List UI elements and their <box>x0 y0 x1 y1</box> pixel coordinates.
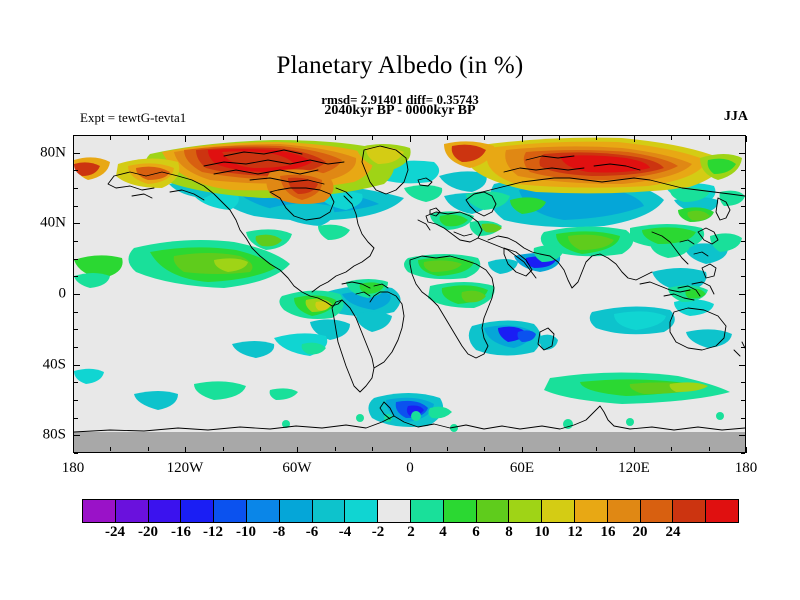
colorbar-tick-label: -2 <box>372 524 385 541</box>
y-tick-right <box>741 206 745 207</box>
x-axis-label: 60W <box>282 460 311 477</box>
colorbar-tick-label: 6 <box>472 524 480 541</box>
colorbar-swatch <box>509 500 542 522</box>
x-tick-top <box>634 136 635 142</box>
colorbar-tick-label: -4 <box>339 524 352 541</box>
y-tick-right <box>741 347 745 348</box>
x-tick-top <box>372 136 373 140</box>
colorbar-tick-label: -20 <box>138 524 158 541</box>
x-tick <box>110 447 111 451</box>
x-tick-top <box>671 136 672 140</box>
colorbar-swatch <box>247 500 280 522</box>
colorbar-swatch <box>444 500 477 522</box>
x-tick-top <box>447 136 448 140</box>
x-tick <box>559 447 560 451</box>
y-tick <box>74 453 78 454</box>
colorbar-swatch <box>116 500 149 522</box>
x-tick-top <box>559 136 560 140</box>
y-tick <box>74 188 78 189</box>
colorbar-swatch <box>673 500 706 522</box>
x-tick <box>746 447 747 453</box>
colorbar-tick-label: -8 <box>273 524 286 541</box>
x-tick-top <box>223 136 224 140</box>
colorbar-swatch <box>149 500 182 522</box>
x-tick <box>709 447 710 451</box>
x-tick <box>260 447 261 451</box>
x-tick <box>484 447 485 451</box>
x-tick <box>223 447 224 451</box>
albedo-anomaly-map <box>74 136 745 452</box>
y-tick <box>74 135 78 136</box>
season-label: JJA <box>724 109 748 125</box>
x-tick-top <box>297 136 298 142</box>
colorbar-swatch <box>706 500 738 522</box>
x-tick <box>671 447 672 451</box>
y-tick <box>74 241 78 242</box>
x-tick-top <box>335 136 336 140</box>
colorbar <box>82 499 739 523</box>
y-tick <box>74 223 80 224</box>
x-tick <box>410 447 411 453</box>
x-tick-top <box>746 136 747 142</box>
x-tick <box>634 447 635 453</box>
x-axis-label: 180 <box>735 460 758 477</box>
colorbar-swatch <box>214 500 247 522</box>
x-axis-label: 120E <box>618 460 650 477</box>
y-tick-right <box>739 365 745 366</box>
colorbar-swatch <box>411 500 444 522</box>
y-tick <box>74 206 78 207</box>
y-axis-label: 40S <box>20 357 66 374</box>
colorbar-swatch <box>83 500 116 522</box>
colorbar-tick-label: -16 <box>171 524 191 541</box>
colorbar-tick-label: 4 <box>439 524 447 541</box>
colorbar-tick-label: 8 <box>505 524 513 541</box>
x-axis-label: 180 <box>62 460 85 477</box>
y-tick <box>74 382 78 383</box>
x-tick-top <box>596 136 597 140</box>
x-tick <box>185 447 186 453</box>
colorbar-swatch <box>378 500 411 522</box>
y-tick-right <box>741 170 745 171</box>
x-tick <box>297 447 298 453</box>
x-axis-label: 120W <box>167 460 204 477</box>
colorbar-swatch <box>181 500 214 522</box>
x-tick-top <box>410 136 411 142</box>
y-axis-label: 80S <box>20 427 66 444</box>
colorbar-tick-label: -10 <box>236 524 256 541</box>
colorbar-swatch <box>608 500 641 522</box>
colorbar-tick-label: 16 <box>601 524 616 541</box>
colorbar-tick-label: -24 <box>105 524 125 541</box>
y-tick <box>74 259 78 260</box>
y-axis-label: 0 <box>20 286 66 303</box>
x-tick-top <box>709 136 710 140</box>
y-axis-label: 80N <box>20 145 66 162</box>
y-tick-right <box>741 188 745 189</box>
x-tick-top <box>73 136 74 142</box>
x-tick-top <box>185 136 186 142</box>
y-tick <box>74 153 80 154</box>
y-tick-right <box>741 312 745 313</box>
x-tick-top <box>484 136 485 140</box>
y-tick <box>74 400 78 401</box>
x-tick-top <box>522 136 523 142</box>
y-tick-right <box>741 400 745 401</box>
y-tick-right <box>739 223 745 224</box>
x-tick <box>148 447 149 451</box>
colorbar-swatch <box>641 500 674 522</box>
colorbar-swatch <box>542 500 575 522</box>
map-plot-area <box>73 135 746 453</box>
x-tick <box>335 447 336 451</box>
x-axis-label: 0 <box>406 460 414 477</box>
x-tick <box>522 447 523 453</box>
x-tick <box>596 447 597 451</box>
y-tick <box>74 329 78 330</box>
colorbar-swatch <box>345 500 378 522</box>
y-tick-right <box>739 294 745 295</box>
colorbar-swatch <box>575 500 608 522</box>
colorbar-tick-label: 12 <box>568 524 583 541</box>
colorbar-tick-label: -6 <box>306 524 319 541</box>
colorbar-swatch <box>280 500 313 522</box>
y-tick <box>74 312 78 313</box>
y-tick-right <box>741 241 745 242</box>
y-tick <box>74 170 78 171</box>
x-tick-top <box>260 136 261 140</box>
y-tick <box>74 418 78 419</box>
colorbar-swatch <box>313 500 346 522</box>
page-title: Planetary Albedo (in %) <box>0 52 800 80</box>
y-tick-right <box>741 418 745 419</box>
colorbar-tick-label: 20 <box>633 524 648 541</box>
colorbar-tick-label: 10 <box>535 524 550 541</box>
x-tick-top <box>148 136 149 140</box>
y-tick-right <box>741 135 745 136</box>
y-tick <box>74 276 78 277</box>
x-tick <box>372 447 373 451</box>
colorbar-tick-label: 24 <box>666 524 681 541</box>
y-tick <box>74 435 80 436</box>
y-tick-right <box>739 153 745 154</box>
albedo-difference-figure: Planetary Albedo (in %) rmsd= 2.91401 di… <box>0 0 800 600</box>
y-axis-label: 40N <box>20 215 66 232</box>
experiment-label: Expt = tewtG-tevta1 <box>80 110 186 126</box>
x-tick <box>447 447 448 451</box>
y-tick <box>74 365 80 366</box>
y-tick-right <box>741 276 745 277</box>
y-tick-right <box>741 382 745 383</box>
colorbar-tick-labels: -24-20-16-12-10-8-6-4-224681012162024 <box>82 524 739 546</box>
colorbar-tick-label: 2 <box>407 524 415 541</box>
x-tick-top <box>110 136 111 140</box>
x-axis-label: 60E <box>510 460 534 477</box>
y-tick-right <box>741 259 745 260</box>
y-tick-right <box>739 435 745 436</box>
colorbar-swatch <box>477 500 510 522</box>
y-tick-right <box>741 329 745 330</box>
colorbar-tick-label: -12 <box>203 524 223 541</box>
y-tick-right <box>741 453 745 454</box>
y-tick <box>74 347 78 348</box>
y-tick <box>74 294 80 295</box>
